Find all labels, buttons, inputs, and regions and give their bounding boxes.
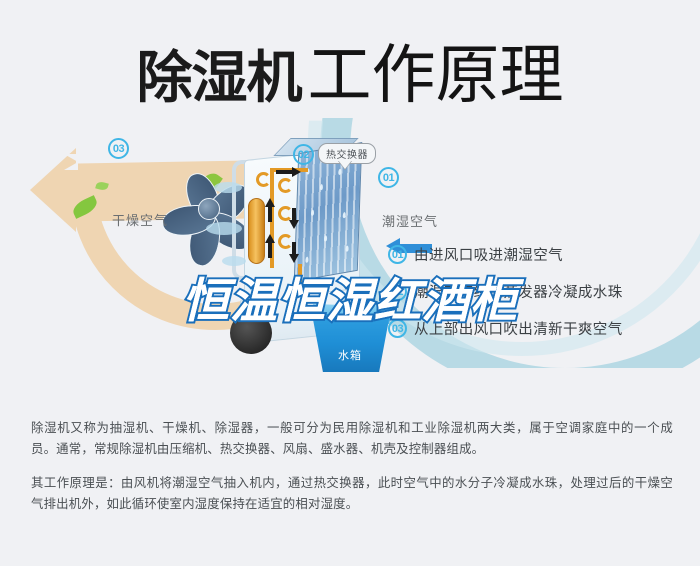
water-tank-label: 水箱 bbox=[338, 347, 362, 363]
callout-pointer bbox=[338, 160, 352, 169]
condensation-droplet bbox=[324, 235, 327, 242]
condensation-droplet bbox=[343, 212, 346, 219]
body-copy: 除湿机又称为抽湿机、干燥机、除湿器，一般可分为民用除湿机和工业除湿机两大类，属于… bbox=[31, 418, 673, 515]
flow-arrow-up bbox=[265, 198, 275, 207]
flow-arrow-shaft bbox=[268, 206, 272, 222]
paragraph-2: 其工作原理是：由风机将潮湿空气抽入机内，通过热交换器，此时空气中的水分子冷凝成水… bbox=[31, 473, 673, 515]
airflow-puff bbox=[214, 182, 242, 193]
badge-02-heat-exchanger: 02 bbox=[293, 144, 314, 165]
condensation-droplet bbox=[338, 169, 341, 176]
compressor-cylinder bbox=[248, 198, 265, 264]
fan-hub bbox=[198, 198, 220, 220]
condensation-droplet bbox=[345, 245, 348, 252]
flow-arrow-down bbox=[289, 220, 299, 229]
flow-arrow-shaft bbox=[276, 170, 292, 174]
badge-03-dry-air: 03 bbox=[108, 138, 129, 159]
coil-loop bbox=[256, 172, 271, 187]
flow-arrow-shaft bbox=[268, 242, 272, 258]
coil-loop bbox=[278, 234, 293, 249]
page-title-part1: 除湿机 bbox=[137, 46, 302, 109]
infographic-page: 除湿机工作原理 bbox=[0, 0, 700, 566]
flow-arrow-right bbox=[292, 167, 301, 177]
watermark-text: 恒温恒湿红酒柜 bbox=[0, 262, 700, 331]
condensation-droplet bbox=[320, 184, 323, 191]
paragraph-1: 除湿机又称为抽湿机、干燥机、除湿器，一般可分为民用除湿机和工业除湿机两大类，属于… bbox=[31, 418, 673, 460]
coil-loop bbox=[278, 178, 293, 193]
airflow-puff bbox=[206, 222, 242, 235]
label-dry-air: 干燥空气 bbox=[112, 210, 168, 229]
flow-arrow-up bbox=[265, 234, 275, 243]
dry-air-notch bbox=[64, 154, 78, 170]
badge-01-humid-air: 01 bbox=[378, 167, 399, 188]
label-humid-air: 潮湿空气 bbox=[382, 211, 438, 230]
compressor-coil-assembly bbox=[246, 168, 310, 272]
coil-loop bbox=[278, 206, 293, 221]
condensation-droplet bbox=[311, 209, 314, 216]
page-title-part2: 工作原理 bbox=[308, 39, 564, 111]
page-title: 除湿机工作原理 bbox=[0, 24, 700, 116]
